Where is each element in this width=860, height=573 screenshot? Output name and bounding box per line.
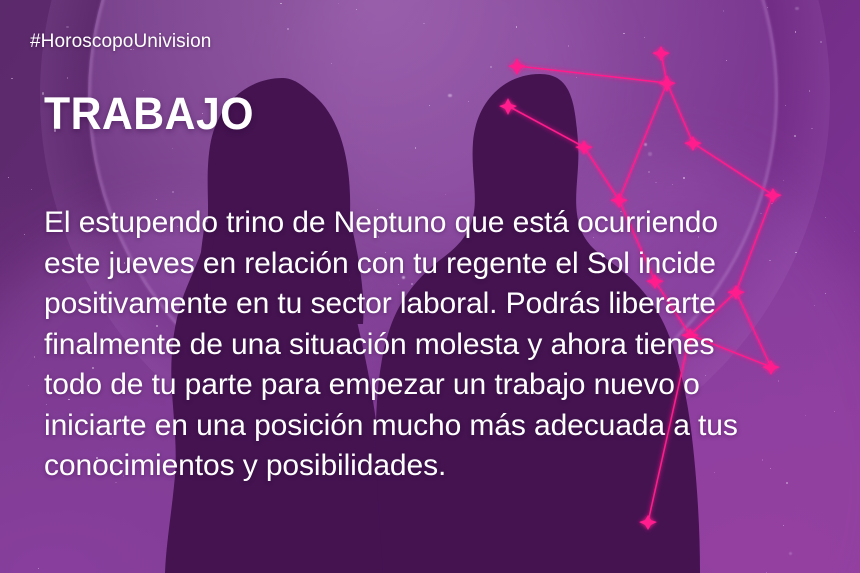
horoscope-body-line: El estupendo trino de Neptuno que está o…: [44, 203, 826, 244]
star: [499, 98, 517, 115]
horoscope-body-line: positivamente en tu sector laboral. Podr…: [44, 284, 826, 325]
star: [684, 136, 702, 151]
horoscope-body-line: finalmente de una situación molesta y ah…: [44, 325, 826, 366]
horoscope-body-text: El estupendo trino de Neptuno que está o…: [44, 203, 826, 487]
page-title: TRABAJO: [44, 88, 254, 140]
star: [639, 515, 657, 530]
hashtag-label: #HoroscopoUnivision: [30, 31, 211, 53]
horoscope-body-line: conocimientos y posibilidades.: [44, 446, 826, 487]
star: [658, 75, 676, 92]
star: [652, 46, 670, 61]
star: [575, 140, 593, 155]
horoscope-card: #HoroscopoUnivision TRABAJO El estupendo…: [0, 0, 860, 573]
star: [508, 58, 526, 75]
horoscope-body-line: este jueves en relación con tu regente e…: [44, 244, 826, 285]
horoscope-body-line: todo de tu parte para empezar un trabajo…: [44, 365, 826, 406]
horoscope-body-line: iniciarte en una posición mucho más adec…: [44, 406, 826, 447]
